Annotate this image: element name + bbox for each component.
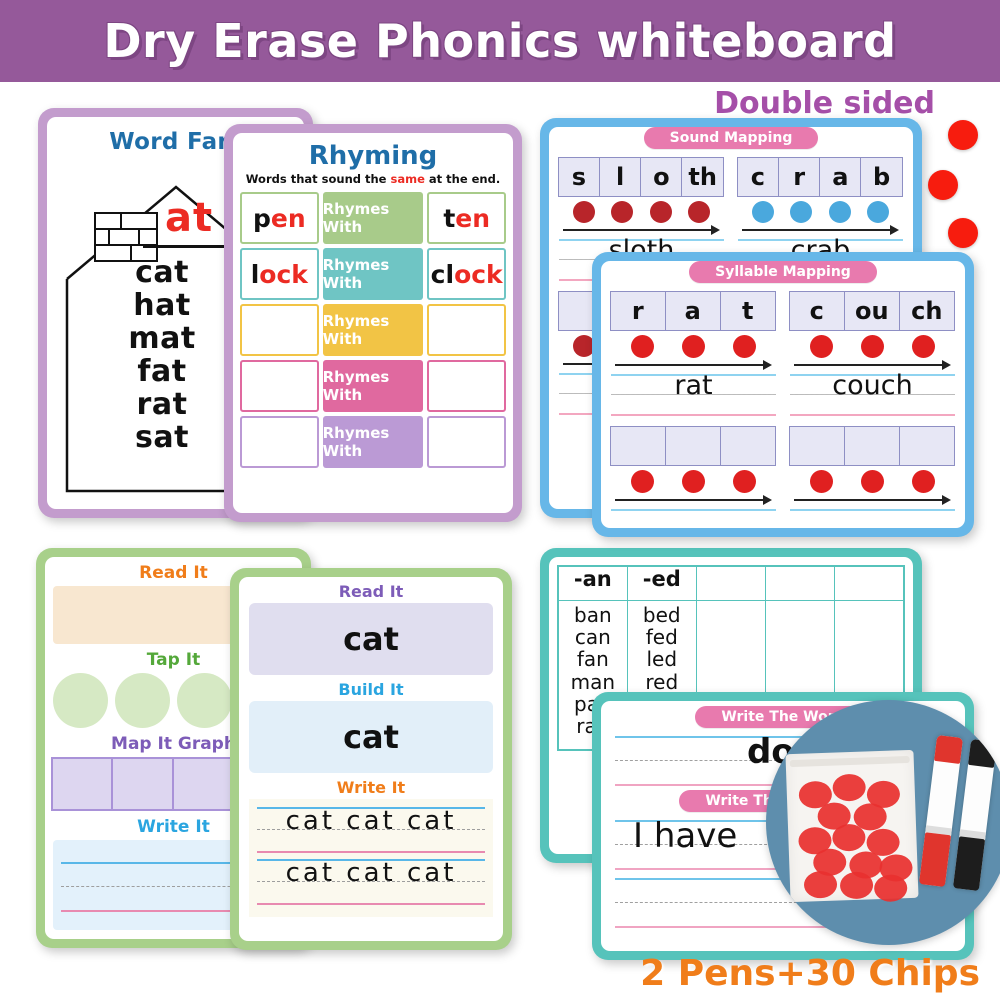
rhyming-word-cell[interactable]: ten [427, 192, 506, 244]
rhyming-row: lockRhymes Withclock [240, 248, 506, 300]
sound-chip[interactable] [810, 335, 833, 358]
sound-chip[interactable] [790, 201, 812, 223]
letter-boxes[interactable]: rat [611, 291, 776, 331]
word-family-rime: at [165, 195, 213, 241]
rhyming-inner: Rhyming Words that sound the same at the… [233, 133, 513, 513]
letter-boxes[interactable]: couch [790, 291, 955, 331]
letter-box[interactable] [899, 426, 956, 466]
letter-box[interactable]: r [778, 157, 821, 197]
tap-circle [177, 673, 232, 728]
sound-chip[interactable] [912, 335, 935, 358]
marker-cap [934, 735, 963, 764]
column-header [835, 566, 904, 600]
write-line: cat cat cat [253, 805, 489, 857]
sound-chip[interactable] [733, 470, 756, 493]
marker-barrel [953, 836, 985, 891]
column-header [766, 566, 835, 600]
sound-chip[interactable] [810, 470, 833, 493]
section-label-write-it: Write It [239, 773, 503, 799]
list-item: hat [133, 290, 190, 322]
rule-line-bottom [257, 903, 485, 905]
list-item: mat [128, 323, 195, 355]
rule-line-bottom [611, 414, 776, 416]
letter-box[interactable]: a [819, 157, 862, 197]
rhyming-title: Rhyming [233, 133, 513, 171]
rule-line-top [611, 509, 776, 511]
red-chip [832, 774, 866, 802]
rhyming-row: penRhymes Withten [240, 192, 506, 244]
mapping-column [611, 426, 776, 528]
double-sided-badge: Double sided [714, 86, 935, 121]
marker-cap [968, 739, 997, 768]
letter-box[interactable]: c [737, 157, 780, 197]
sort-word: bed [628, 604, 696, 626]
letter-box[interactable]: th [681, 157, 724, 197]
sound-chip[interactable] [829, 201, 851, 223]
sound-mapping-pill: Sound Mapping [644, 127, 819, 149]
word-rime: ock [259, 260, 308, 289]
sound-chip[interactable] [912, 470, 935, 493]
rhyming-word-cell[interactable] [240, 416, 319, 468]
rhymes-with-label: Rhymes With [323, 416, 424, 468]
card-syllable-mapping[interactable]: Syllable Mapping ratratcouchcouch [592, 252, 974, 537]
sort-word: fan [559, 648, 627, 670]
list-item: cat [135, 257, 189, 289]
letter-box[interactable]: l [599, 157, 642, 197]
sound-chip[interactable] [861, 335, 884, 358]
red-chip [832, 824, 866, 852]
direction-arrow-icon [563, 225, 720, 235]
direction-arrow-icon [742, 225, 899, 235]
bag-zipper [790, 756, 910, 767]
direction-arrow-icon [794, 360, 951, 370]
direction-arrow-icon [615, 360, 772, 370]
chip-row [559, 197, 724, 225]
chips-bag [785, 750, 918, 902]
letter-box[interactable]: t [720, 291, 777, 331]
chip-row [738, 197, 903, 225]
letter-box[interactable]: ou [844, 291, 901, 331]
syllable-mapping-inner: Syllable Mapping ratratcouchcouch [601, 261, 965, 528]
letter-box[interactable]: r [610, 291, 667, 331]
letter-box[interactable] [665, 426, 722, 466]
rhyming-word-cell[interactable]: clock [427, 248, 506, 300]
letter-box[interactable] [720, 426, 777, 466]
floating-red-chip [928, 170, 958, 200]
rhyming-word-cell[interactable]: pen [240, 192, 319, 244]
syllable-row [601, 418, 965, 528]
letter-box[interactable] [789, 426, 846, 466]
mapping-column: couchcouch [790, 291, 955, 418]
card-rhyming[interactable]: Rhyming Words that sound the same at the… [224, 124, 522, 522]
letter-box[interactable]: b [860, 157, 903, 197]
rhyming-row: Rhymes With [240, 416, 506, 468]
marker-barrel [919, 832, 951, 887]
rule-line-top [790, 509, 955, 511]
read-build-write-inner: Read It cat Build It cat Write It cat ca… [239, 577, 503, 941]
letter-box[interactable]: s [558, 157, 601, 197]
write-line-text: cat cat cat [253, 858, 489, 888]
write-line-text: cat cat cat [253, 806, 489, 836]
sound-chip[interactable] [650, 201, 672, 223]
column-header [696, 566, 765, 600]
word-rime: en [271, 204, 306, 233]
tap-circle [115, 673, 170, 728]
rhyming-word-cell[interactable]: lock [240, 248, 319, 300]
section-label-read-it: Read It [239, 577, 503, 603]
rhyming-word-cell[interactable] [240, 360, 319, 412]
red-chip [804, 871, 838, 899]
sound-chip[interactable] [682, 470, 705, 493]
list-item: fat [137, 356, 186, 388]
rhyming-row: Rhymes With [240, 360, 506, 412]
sort-word: fed [628, 626, 696, 648]
syllable-mapping-pill: Syllable Mapping [689, 261, 877, 283]
letter-box[interactable]: a [665, 291, 722, 331]
syllable-row: ratratcouchcouch [601, 283, 965, 418]
letter-box[interactable] [610, 426, 667, 466]
build-it-word-box: cat [249, 701, 493, 773]
rhyming-subtitle-before: Words that sound the [246, 172, 391, 186]
floating-red-chip [948, 218, 978, 248]
sound-chip[interactable] [573, 201, 595, 223]
rhyming-row: Rhymes With [240, 304, 506, 356]
word-onset: l [251, 260, 260, 289]
rhyming-word-cell[interactable] [427, 304, 506, 356]
rhymes-with-label: Rhymes With [323, 192, 424, 244]
rhyming-word-cell[interactable] [427, 416, 506, 468]
letter-boxes[interactable]: crab [738, 157, 903, 197]
column-header: -an [558, 566, 627, 600]
table-header-row: -an -ed [558, 566, 904, 600]
header-banner: Dry Erase Phonics whiteboard [0, 0, 1000, 82]
sort-word: can [559, 626, 627, 648]
sound-chip[interactable] [861, 470, 884, 493]
letter-box[interactable] [844, 426, 901, 466]
card-read-build-write[interactable]: Read It cat Build It cat Write It cat ca… [230, 568, 512, 950]
sort-word: red [628, 671, 696, 693]
word-rime: ock [454, 260, 503, 289]
rule-line-bottom [790, 414, 955, 416]
handwriting-lines: couch [790, 372, 955, 418]
rhyming-subtitle: Words that sound the same at the end. [233, 172, 513, 186]
rhyming-word-cell[interactable] [427, 360, 506, 412]
syllable-mapping-rows: ratratcouchcouch [601, 283, 965, 528]
product-photo-inset [766, 700, 1000, 945]
rhyming-subtitle-after: at the end. [425, 172, 500, 186]
rule-line-bottom [257, 851, 485, 853]
read-it-word-box: cat [249, 603, 493, 675]
list-item: sat [135, 422, 189, 454]
letter-boxes[interactable]: sloth [559, 157, 724, 197]
handwriting-lines [611, 507, 776, 528]
mapped-word: rat [611, 370, 776, 401]
product-image-stage: Dry Erase Phonics whiteboard Double side… [0, 0, 1000, 1000]
rhyming-word-cell[interactable] [240, 304, 319, 356]
direction-arrow-icon [794, 495, 951, 505]
sound-chip[interactable] [752, 201, 774, 223]
sound-chip[interactable] [631, 335, 654, 358]
word-rime: en [455, 204, 490, 233]
mapping-column: ratrat [611, 291, 776, 418]
sound-chip[interactable] [688, 201, 710, 223]
pens-chips-caption: 2 Pens+30 Chips [640, 953, 980, 994]
map-box [111, 757, 173, 811]
column-header: -ed [627, 566, 696, 600]
rhymes-with-label: Rhymes With [323, 248, 424, 300]
chip-row [611, 331, 776, 360]
sort-word: man [559, 671, 627, 693]
letter-box[interactable]: c [789, 291, 846, 331]
tap-circle [53, 673, 108, 728]
letter-boxes[interactable] [611, 426, 776, 466]
rhymes-with-label: Rhymes With [323, 360, 424, 412]
word-onset: p [253, 204, 271, 233]
write-line: cat cat cat [253, 857, 489, 909]
sound-chip[interactable] [867, 201, 889, 223]
rhymes-with-label: Rhymes With [323, 304, 424, 356]
mapping-column [790, 426, 955, 528]
word-onset: t [443, 204, 455, 233]
mapped-word: couch [790, 370, 955, 401]
section-label-build-it: Build It [239, 675, 503, 701]
sound-chip[interactable] [682, 335, 705, 358]
letter-box[interactable]: ch [899, 291, 956, 331]
direction-arrow-icon [615, 495, 772, 505]
sound-chip[interactable] [733, 335, 756, 358]
rhyming-subtitle-highlight: same [390, 172, 424, 186]
sort-word: ban [559, 604, 627, 626]
handwriting-lines: rat [611, 372, 776, 418]
sound-chip[interactable] [611, 201, 633, 223]
sort-word: led [628, 648, 696, 670]
map-box [172, 757, 234, 811]
chip-row [790, 331, 955, 360]
write-it-lines: cat cat cat cat cat cat [249, 799, 493, 917]
list-item: rat [137, 389, 188, 421]
letter-box[interactable]: o [640, 157, 683, 197]
handwriting-lines [790, 507, 955, 528]
sound-chip[interactable] [631, 470, 654, 493]
rhyming-grid: penRhymes WithtenlockRhymes WithclockRhy… [240, 192, 506, 468]
word-onset: cl [431, 260, 454, 289]
page-title: Dry Erase Phonics whiteboard [103, 14, 896, 68]
floating-red-chip [948, 120, 978, 150]
red-chip [840, 871, 874, 899]
map-box [51, 757, 113, 811]
red-chip [874, 874, 908, 902]
chip-row [611, 466, 776, 495]
chip-row [790, 466, 955, 495]
letter-boxes[interactable] [790, 426, 955, 466]
